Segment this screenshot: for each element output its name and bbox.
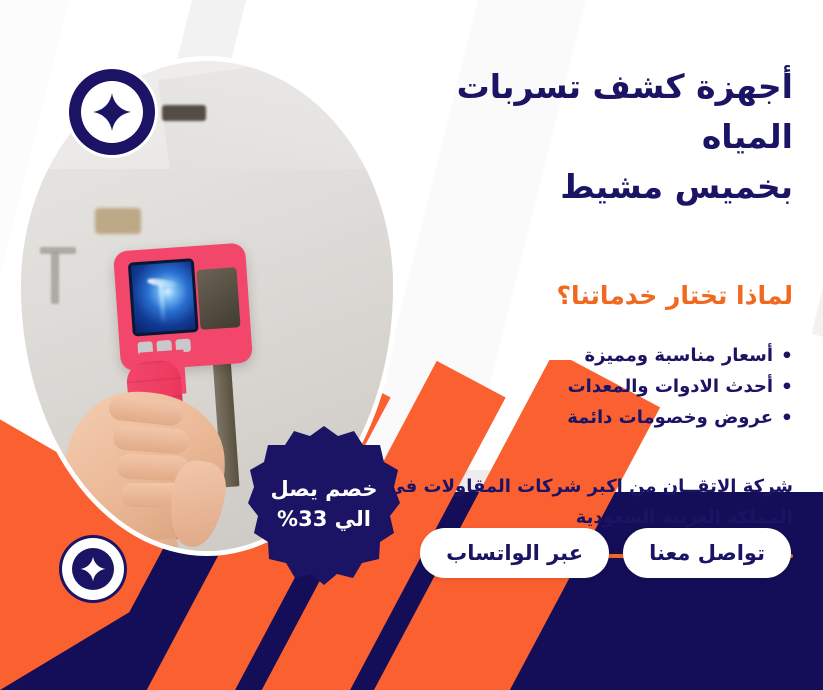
whatsapp-button[interactable]: عبر الواتساب [420, 528, 609, 578]
headline-line-2: بخميس مشيط [560, 167, 793, 206]
photo-wall-pipe [40, 247, 76, 254]
headline-line-1: أجهزة كشف تسربات المياه [457, 67, 793, 156]
cta-button-row: تواصل معنا عبر الواتساب [420, 528, 791, 578]
list-item: أسعار مناسبة ومميزة [373, 341, 793, 372]
contact-us-button[interactable]: تواصل معنا [623, 528, 791, 578]
page-title: أجهزة كشف تسربات المياه بخميس مشيط [373, 62, 793, 212]
benefits-list: أسعار مناسبة ومميزة أحدث الادوات والمعدا… [373, 341, 793, 434]
four-point-star-sparkle-icon [80, 556, 106, 582]
discount-badge-text: خصم يصل الي 33% [248, 424, 400, 592]
discount-badge: خصم يصل الي 33% [248, 424, 400, 592]
thermal-camera-lens [196, 267, 240, 330]
list-item: أحدث الادوات والمعدات [373, 372, 793, 403]
finger [112, 424, 190, 454]
brand-logo-top [66, 66, 158, 158]
brand-logo-bottom [62, 538, 124, 600]
why-choose-us-heading: لماذا تختار خدماتنا؟ [373, 280, 793, 313]
discount-line-1: خصم يصل [271, 474, 378, 504]
four-point-star-sparkle-icon [92, 92, 132, 132]
promo-banner: أجهزة كشف تسربات المياه بخميس مشيط لماذا… [0, 0, 823, 690]
photo-wall-pipe [51, 252, 59, 304]
discount-line-2: الي 33% [277, 504, 371, 534]
brand-logo-inner [72, 548, 114, 590]
photo-wall-pipe [95, 208, 141, 234]
content-column: أجهزة كشف تسربات المياه بخميس مشيط لماذا… [373, 62, 793, 558]
photo-wall-fixture [162, 105, 206, 121]
thermal-camera-screen [128, 258, 199, 336]
brand-logo-inner [81, 81, 143, 143]
list-item: عروض وخصومات دائمة [373, 403, 793, 434]
company-description: شركة الاتقــان من اكبر شركات المقاولات ف… [373, 472, 793, 534]
